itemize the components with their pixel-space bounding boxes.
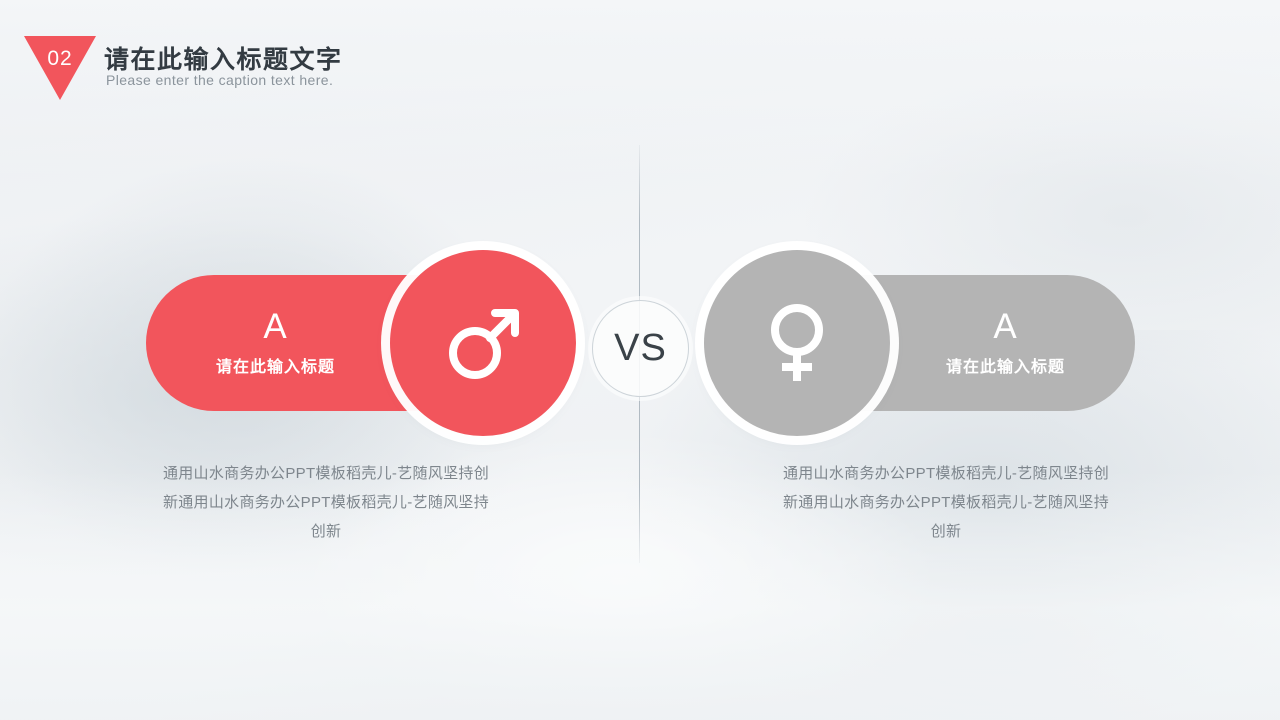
left-icon-badge[interactable]: [390, 250, 576, 436]
vs-badge: VS: [592, 300, 689, 397]
vs-label: VS: [614, 327, 667, 370]
male-gender-icon: [437, 297, 529, 389]
left-description: 通用山水商务办公PPT模板稻壳儿-艺随风坚持创新通用山水商务办公PPT模板稻壳儿…: [161, 459, 491, 546]
page-subtitle: Please enter the caption text here.: [106, 72, 333, 88]
left-capsule-text: A 请在此输入标题: [216, 309, 335, 377]
section-number-badge: 02: [24, 36, 96, 100]
background-texture-lower-right: [840, 560, 1260, 720]
right-capsule-text: A 请在此输入标题: [946, 309, 1065, 377]
female-gender-icon: [751, 297, 843, 389]
right-icon-badge[interactable]: [704, 250, 890, 436]
right-title: 请在此输入标题: [946, 353, 1065, 377]
page-title: 请在此输入标题文字: [104, 40, 343, 76]
left-letter: A: [263, 309, 287, 344]
slide-header: 02 请在此输入标题文字 Please enter the caption te…: [0, 0, 1280, 120]
left-title: 请在此输入标题: [216, 353, 335, 377]
slide-canvas: 02 请在此输入标题文字 Please enter the caption te…: [0, 0, 1280, 720]
section-number: 02: [24, 47, 96, 71]
right-description: 通用山水商务办公PPT模板稻壳儿-艺随风坚持创新通用山水商务办公PPT模板稻壳儿…: [781, 459, 1111, 546]
right-letter: A: [993, 309, 1017, 344]
